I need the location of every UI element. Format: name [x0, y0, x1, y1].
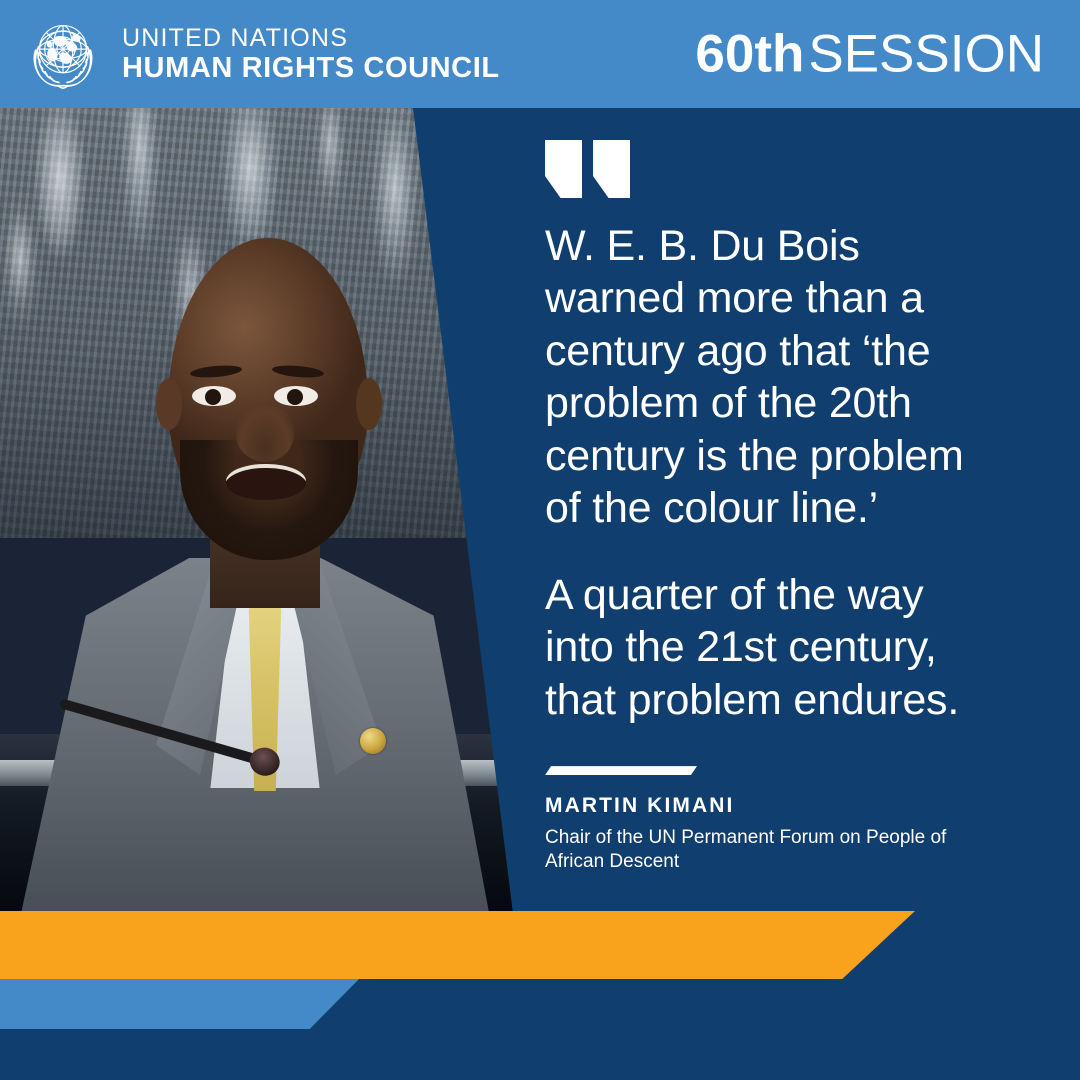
quote-paragraph-spacer: [545, 535, 1015, 569]
speaker-photo: FORUM PERMANENT: [0, 108, 520, 914]
organization-name: UNITED NATIONS HUMAN RIGHTS COUNCIL: [122, 26, 500, 83]
quote-paragraph-1: W. E. B. Du Bois warned more than a cent…: [545, 220, 1015, 535]
organization-line-1: UNITED NATIONS: [122, 26, 500, 51]
attribution-divider: [545, 766, 697, 775]
organization-line-2: HUMAN RIGHTS COUNCIL: [122, 54, 500, 83]
speaker-pupil-left: [205, 389, 221, 405]
quotation-mark-left-glyph: [545, 140, 582, 198]
quote-line: century is the problem: [545, 432, 964, 480]
quote-line: century ago that ‘the: [545, 327, 930, 375]
quotation-mark-icon: [545, 140, 1015, 198]
header-branding: UNITED NATIONS HUMAN RIGHTS COUNCIL: [22, 15, 500, 93]
quote-paragraph-2: A quarter of the way into the 21st centu…: [545, 569, 1015, 726]
photo-scene: FORUM PERMANENT: [0, 108, 520, 914]
speaker-mouth: [226, 464, 306, 500]
quotation-mark-right-glyph: [593, 140, 630, 198]
decorative-orange-bar: [0, 911, 915, 979]
header-bar: UNITED NATIONS HUMAN RIGHTS COUNCIL 60th…: [0, 0, 1080, 108]
session-ordinal: 60th: [695, 25, 804, 84]
speaker-figure: [60, 228, 460, 914]
quote-panel: W. E. B. Du Bois warned more than a cent…: [545, 140, 1015, 875]
quote-line: problem of the 20th: [545, 379, 912, 427]
speaker-eye-left: [192, 386, 236, 406]
attribution-block: MARTIN KIMANI Chair of the UN Permanent …: [545, 766, 1015, 875]
speaker-ear-left: [156, 378, 182, 430]
speaker-eye-right: [274, 386, 318, 406]
session-title: 60thSESSION: [695, 28, 1044, 81]
quote-line: into the 21st century,: [545, 623, 937, 671]
decorative-blue-bar: [0, 973, 365, 1029]
quote-line: W. E. B. Du Bois: [545, 222, 860, 270]
un-emblem-icon: [22, 15, 104, 93]
attribution-role: Chair of the UN Permanent Forum on Peopl…: [545, 826, 975, 875]
quote-line: that problem endures.: [545, 676, 959, 724]
speaker-ear-right: [356, 378, 382, 430]
session-word: SESSION: [808, 25, 1044, 84]
quote-text: W. E. B. Du Bois warned more than a cent…: [545, 220, 1015, 726]
quote-line: warned more than a: [545, 274, 924, 322]
social-card: UNITED NATIONS HUMAN RIGHTS COUNCIL 60th…: [0, 0, 1080, 1080]
quote-line: A quarter of the way: [545, 571, 923, 619]
speaker-nose: [236, 406, 294, 462]
speaker-pupil-right: [287, 389, 303, 405]
quote-line: of the colour line.’: [545, 484, 878, 532]
attribution-name: MARTIN KIMANI: [545, 794, 1015, 818]
lapel-pin-icon: [360, 728, 386, 754]
